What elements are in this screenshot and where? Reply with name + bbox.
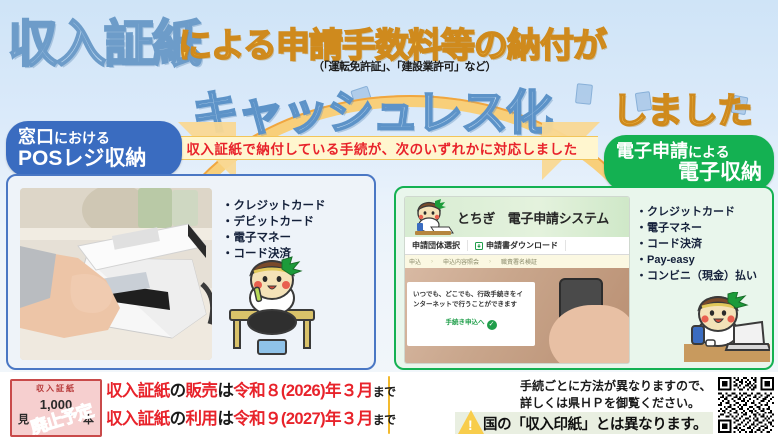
right-category-pill: 電子申請による 電子収納 [604,135,774,191]
hero-line-2: ンターネットで行うことができます [413,300,529,310]
left-methods-ul: クレジットカード デビットカード 電子マネー コード決済 [222,198,326,262]
right-method-item: Pay-easy [636,252,757,268]
right-method-item: コンビニ（現金）払い [636,268,757,284]
poster-root: 収入証紙 による申請手数料等の納付が （「運転免許証」、「建設業許可」など） キ… [0,0,778,438]
nav-item-download-form[interactable]: 申請書ダウンロード [468,240,566,251]
bottom-notice-line2: 収入証紙の利用は令和９(2027)年３月まで [106,406,396,434]
right-methods-ul: クレジットカード 電子マネー コード決済 Pay-easy コンビニ（現金）払い [636,204,757,284]
download-icon [475,242,483,250]
mascot-desk-svg [224,256,320,360]
right-pill-line1-sub: による [688,144,730,160]
title-cashless: キャッシュレス化 [192,74,551,143]
title-shunyushoshi: 収入証紙 [8,4,200,76]
line1-part-d: は [217,382,233,400]
left-pill-line1: 窓口における [18,128,170,147]
screenshot-brand-title: とちぎ 電子申請システム [457,208,609,227]
middle-banner: 収入証紙で納付している手続が、次のいずれかに対応しました [166,136,598,160]
mascot-at-desk [224,256,320,365]
left-method-item: 電子マネー [222,230,326,246]
left-method-item: クレジットカード [222,198,326,214]
stamp-header-text: 収入証紙 [12,383,100,394]
subnav-item-inquiry[interactable]: 申込内容照会 [443,257,479,266]
line2-part-e: 令和９(2027)年３月 [233,410,373,428]
left-methods-list: クレジットカード デビットカード 電子マネー コード決済 [222,198,326,262]
warning-text: 国の「収入印紙」とは異なります。 [483,413,707,434]
line1-part-c: 販売 [186,382,218,400]
bottom-notice-line1: 収入証紙の販売は令和８(2026)年３月まで [106,378,396,406]
subnav-chevron-icon: › [431,259,433,265]
hero-cta-label: 手続き申込へ [446,319,485,326]
warning-box: 国の「収入印紙」とは異なります。 [455,412,713,434]
pos-terminal-photo [20,188,212,360]
nav-item-download-form-label: 申請書ダウンロード [486,240,558,251]
screenshot-subnav: 申込 › 申込内容照会 › 職責署名検証 [405,255,629,268]
line2-part-b: の [170,410,186,428]
right-method-item: クレジットカード [636,204,757,220]
mascot-logo-icon [409,199,455,237]
line2-part-a: 収入証紙 [106,410,170,428]
note-line-1: 手続ごとに方法が異なりますので、 [520,378,712,395]
left-pill-line1-sub: における [54,130,110,146]
right-method-item: 電子マネー [636,220,757,236]
right-pill-line1-main: 電子申請 [616,141,688,161]
bottom-right-note: 手続ごとに方法が異なりますので、 詳しくは県ＨＰを御覧ください。 [520,378,712,412]
screenshot-nav: 申請団体選択 申請書ダウンロード [405,237,629,255]
line1-part-a: 収入証紙 [106,382,170,400]
title-subnote: （「運転免許証」、「建設業許可」など） [313,58,496,74]
qr-code[interactable] [718,377,774,433]
screenshot-hero: いつでも、どこでも、行政手続きをイ ンターネットで行うことができます 手続き申込… [405,268,629,363]
nav-item-select-org[interactable]: 申請団体選択 [405,240,468,251]
left-pill-line2: POSレジ収納 [18,147,170,170]
revenue-stamp-image: 収入証紙 1,000 見 本 廃止予定 [10,379,102,437]
subnav-item-apply[interactable]: 申込 [409,257,421,266]
subnav-item-signature-verify[interactable]: 職責署名検証 [501,257,537,266]
middle-banner-text: 収入証紙で納付している手続が、次のいずれかに対応しました [186,138,577,158]
right-method-item: コード決済 [636,236,757,252]
left-pill-line1-main: 窓口 [18,127,54,147]
right-methods-list: クレジットカード 電子マネー コード決済 Pay-easy コンビニ（現金）払い [636,204,757,284]
screenshot-header: とちぎ 電子申請システム [405,197,629,237]
right-pill-line2: 電子収納 [616,161,762,184]
decorative-card-icon [575,83,593,105]
left-category-pill: 窓口における POSレジ収納 [6,121,182,177]
eapplication-screenshot: とちぎ 電子申請システム 申請団体選択 申請書ダウンロード 申込 › 申込内容照… [404,196,630,364]
hero-cta-button[interactable]: 手続き申込へ✓ [413,316,529,330]
hero-message-card: いつでも、どこでも、行政手続きをイ ンターネットで行うことができます 手続き申込… [407,282,535,346]
line2-part-f: まで [373,413,396,427]
mascot-laptop-svg [684,292,770,362]
line1-part-e: 令和８(2026)年３月 [233,382,373,400]
hero-line-1: いつでも、どこでも、行政手続きをイ [413,290,529,300]
line2-part-c: 利用 [186,410,218,428]
nav-item-select-org-label: 申請団体選択 [412,240,460,251]
line2-part-d: は [217,410,233,428]
warning-exclamation-icon: ! [468,417,473,433]
left-method-item: デビットカード [222,214,326,230]
left-panel: クレジットカード デビットカード 電子マネー コード決済 [6,174,376,370]
mascot-with-laptop [684,292,770,367]
line1-part-b: の [170,382,186,400]
qr-code-svg [718,377,774,433]
right-pill-line1: 電子申請による [616,142,762,161]
right-panel: とちぎ 電子申請システム 申請団体選択 申請書ダウンロード 申込 › 申込内容照… [394,186,774,370]
note-line-2: 詳しくは県ＨＰを御覧ください。 [520,395,712,412]
chevron-down-circle-icon: ✓ [487,320,497,330]
pos-photo-svg [20,188,212,360]
title-shimashita: しました [612,82,752,134]
bottom-left-notice: 収入証紙の販売は令和８(2026)年３月まで 収入証紙の利用は令和９(2027)… [106,378,396,434]
subnav-chevron-icon: › [489,259,491,265]
line1-part-f: まで [373,385,396,399]
